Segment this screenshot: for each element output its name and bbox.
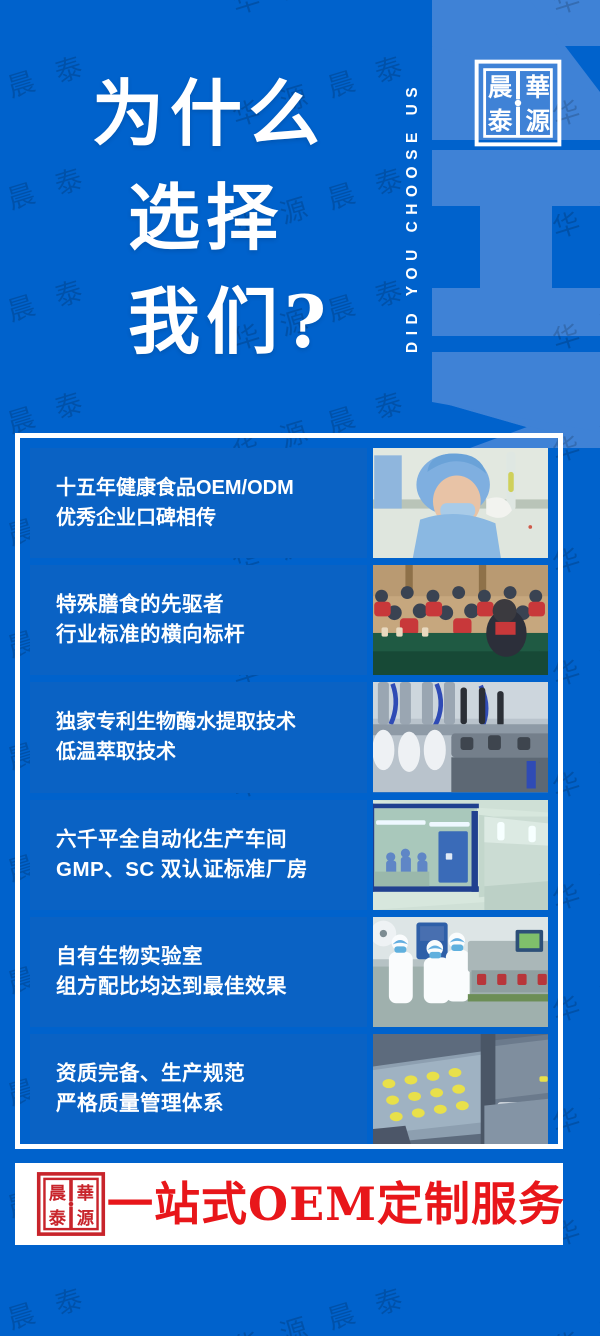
title-line-3: 我们? — [92, 270, 392, 374]
title-line-2: 选择 — [92, 166, 392, 270]
company-seal-red-icon: 晨 華 泰 源 — [35, 1171, 107, 1237]
title-line-1: 为什么 — [92, 62, 392, 166]
poster-canvas: 华 源 晨 泰 华 源 晨 泰 华 源 晨 泰 华 源 晨 泰 华 源 晨 泰 … — [0, 0, 600, 1336]
list-item[interactable]: 独家专利生物酶水提取技术 低温萃取技术 — [30, 682, 548, 792]
feature-3-photo — [373, 682, 548, 792]
list-item[interactable]: 十五年健康食品OEM/ODM 优秀企业口碑相传 — [30, 448, 548, 558]
features-list: 十五年健康食品OEM/ODM 优秀企业口碑相传 — [30, 448, 548, 1144]
feature-3-line-2: 低温萃取技术 — [56, 737, 367, 767]
feature-4-line-2: GMP、SC 双认证标准厂房 — [56, 855, 367, 885]
list-item[interactable]: 资质完备、生产规范 严格质量管理体系 — [30, 1034, 548, 1144]
feature-3-line-1: 独家专利生物酶水提取技术 — [56, 707, 367, 737]
feature-2-line-1: 特殊膳食的先驱者 — [56, 590, 367, 620]
feature-2-line-2: 行业标准的横向标杆 — [56, 620, 367, 650]
svg-text:源: 源 — [526, 106, 551, 135]
list-item[interactable]: 六千平全自动化生产车间 GMP、SC 双认证标准厂房 — [30, 800, 548, 910]
feature-card-2: 特殊膳食的先驱者 行业标准的横向标杆 — [30, 565, 367, 675]
feature-6-photo — [373, 1034, 548, 1144]
feature-4-photo — [373, 800, 548, 910]
bottom-banner[interactable]: 晨 華 泰 源 一站式OEM定制服务 — [15, 1163, 563, 1245]
list-item[interactable]: 自有生物实验室 组方配比均达到最佳效果 — [30, 917, 548, 1027]
banner-slogan: 一站式OEM定制服务 — [107, 1181, 575, 1227]
svg-text:晨: 晨 — [488, 72, 513, 101]
svg-text:源: 源 — [77, 1208, 95, 1229]
features-frame: 十五年健康食品OEM/ODM 优秀企业口碑相传 — [15, 433, 563, 1149]
feature-card-3: 独家专利生物酶水提取技术 低温萃取技术 — [30, 682, 367, 792]
feature-card-6: 资质完备、生产规范 严格质量管理体系 — [30, 1034, 367, 1144]
poster-header: 为什么 选择 我们? DID YOU CHOOSE US 晨 華 泰 源 — [0, 0, 600, 432]
feature-card-5: 自有生物实验室 组方配比均达到最佳效果 — [30, 917, 367, 1027]
feature-4-line-1: 六千平全自动化生产车间 — [56, 825, 367, 855]
feature-1-photo — [373, 448, 548, 558]
watermark-text: 华 源 晨 泰 — [471, 1332, 600, 1336]
feature-1-line-1: 十五年健康食品OEM/ODM — [56, 473, 367, 503]
company-seal-icon: 晨 華 泰 源 — [471, 56, 565, 150]
watermark-text: 华 源 晨 泰 — [0, 1332, 169, 1336]
feature-1-line-2: 优秀企业口碑相传 — [56, 503, 367, 533]
watermark-text: 华 源 晨 泰 — [151, 1332, 490, 1336]
svg-text:晨: 晨 — [49, 1184, 67, 1204]
feature-card-4: 六千平全自动化生产车间 GMP、SC 双认证标准厂房 — [30, 800, 367, 910]
svg-text:泰: 泰 — [488, 106, 513, 135]
page-title: 为什么 选择 我们? — [92, 62, 392, 374]
feature-card-1: 十五年健康食品OEM/ODM 优秀企业口碑相传 — [30, 448, 367, 558]
svg-text:華: 華 — [526, 72, 550, 101]
feature-6-line-2: 严格质量管理体系 — [56, 1089, 367, 1119]
feature-5-line-1: 自有生物实验室 — [56, 942, 367, 972]
list-item[interactable]: 特殊膳食的先驱者 行业标准的横向标杆 — [30, 565, 548, 675]
svg-text:泰: 泰 — [48, 1208, 67, 1229]
feature-6-line-1: 资质完备、生产规范 — [56, 1059, 367, 1089]
feature-5-line-2: 组方配比均达到最佳效果 — [56, 972, 367, 1002]
vertical-english-tagline: DID YOU CHOOSE US — [404, 28, 422, 406]
svg-text:華: 華 — [77, 1184, 94, 1204]
feature-2-photo — [373, 565, 548, 675]
feature-5-photo — [373, 917, 548, 1027]
